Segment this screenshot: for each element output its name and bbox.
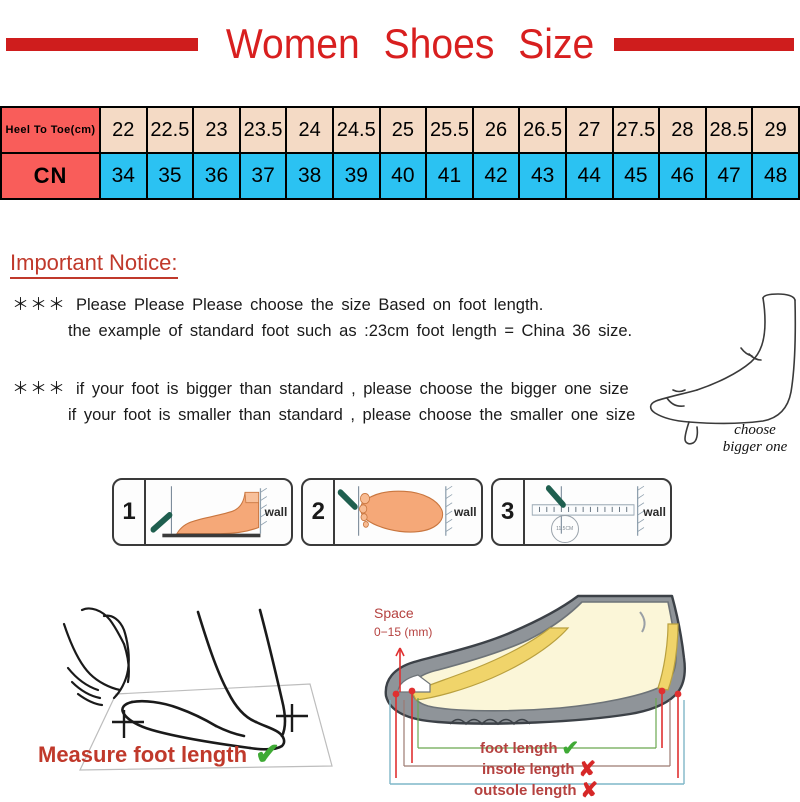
cm-cell: 22 [100, 107, 147, 153]
legend-row-foot-length: foot length ✔ [480, 738, 598, 759]
cm-cell: 23 [193, 107, 240, 153]
notice-bullet-2-line-2: if your foot is smaller than standard , … [68, 402, 672, 428]
cm-cell: 23.5 [240, 107, 287, 153]
legend-label-foot-length: foot length [480, 739, 557, 758]
cm-cell: 24.5 [333, 107, 380, 153]
check-mark-icon: ✔ [255, 740, 280, 770]
row-header-heel-to-toe: Heel To Toe(cm) [1, 107, 100, 153]
step-3-illustration: 11.5CM wall [525, 480, 670, 544]
row-header-cn: CN [1, 153, 100, 199]
cn-cell: 40 [380, 153, 427, 199]
page-title: Women Shoes Size [226, 20, 594, 68]
step-2-illustration: wall [335, 480, 480, 544]
choose-caption-line-2: bigger one [723, 439, 788, 455]
measure-caption-text: Measure foot length [38, 742, 247, 768]
cn-cell: 41 [426, 153, 473, 199]
cn-cell: 39 [333, 153, 380, 199]
title-word-size: Size [518, 20, 594, 67]
legend-row-outsole-length: outsole length ✘ [474, 780, 598, 801]
choose-bigger-one-caption: choose bigger one [700, 422, 800, 456]
notice-bullet-1-line-1: Please Please Please choose the size Bas… [76, 296, 543, 314]
check-mark-icon: ✔ [561, 738, 579, 759]
cn-cell: 45 [613, 153, 660, 199]
cm-cell: 29 [752, 107, 799, 153]
bullet-stars-icon: ＊＊＊ [12, 295, 66, 314]
title-word-women: Women [226, 20, 360, 67]
length-legend: foot length ✔ insole length ✘ outsole le… [480, 738, 598, 801]
notice-bullet-2-line-1: if your foot is bigger than standard , p… [76, 380, 629, 398]
cross-mark-icon: ✘ [579, 759, 597, 780]
notice-bullet-2: ＊＊＊if your foot is bigger than standard … [12, 376, 672, 428]
notice-bullet-1: ＊＊＊Please Please Please choose the size … [12, 292, 672, 344]
cm-cell: 24 [286, 107, 333, 153]
important-notice-heading: Important Notice: [10, 250, 178, 279]
page-title-banner: Women Shoes Size [0, 16, 800, 72]
space-label-line-1: Space [374, 605, 414, 621]
choose-caption-line-1: choose [734, 422, 776, 438]
wall-label-step-1: wall [265, 505, 288, 519]
cn-cell: 44 [566, 153, 613, 199]
cross-mark-icon: ✘ [581, 780, 599, 801]
measure-foot-length-caption: Measure foot length ✔ [38, 740, 280, 770]
measure-steps-panel-group: 1 wall 2 [112, 478, 672, 546]
cn-cell: 36 [193, 153, 240, 199]
cn-cell: 34 [100, 153, 147, 199]
cm-cell: 26 [473, 107, 520, 153]
space-gap-label: Space 0−15 (mm) [374, 604, 432, 641]
title-rule-left [6, 38, 198, 51]
measure-step-panel-3: 3 [491, 478, 672, 546]
cm-cell: 22.5 [147, 107, 194, 153]
cn-cell: 38 [286, 153, 333, 199]
wall-label-step-2: wall [454, 505, 477, 519]
step-1-illustration: wall [146, 480, 291, 544]
table-row-cn: CN 34 35 36 37 38 39 40 41 42 43 44 45 4… [1, 153, 799, 199]
cn-cell: 48 [752, 153, 799, 199]
step-number-2: 2 [303, 480, 335, 544]
title-rule-right [614, 38, 794, 51]
legend-label-insole-length: insole length [482, 760, 575, 779]
cn-cell: 35 [147, 153, 194, 199]
table-row-heel-to-toe: Heel To Toe(cm) 22 22.5 23 23.5 24 24.5 … [1, 107, 799, 153]
cm-cell: 26.5 [519, 107, 566, 153]
cn-cell: 47 [706, 153, 753, 199]
cm-cell: 27 [566, 107, 613, 153]
cn-cell: 46 [659, 153, 706, 199]
step-number-3: 3 [493, 480, 525, 544]
size-chart-table-wrapper: Heel To Toe(cm) 22 22.5 23 23.5 24 24.5 … [0, 106, 800, 200]
title-word-shoes: Shoes [384, 20, 495, 67]
cm-cell: 28 [659, 107, 706, 153]
cm-cell: 28.5 [706, 107, 753, 153]
cm-cell: 25 [380, 107, 427, 153]
size-chart-table: Heel To Toe(cm) 22 22.5 23 23.5 24 24.5 … [0, 106, 800, 200]
legend-row-insole-length: insole length ✘ [482, 759, 598, 780]
cn-cell: 37 [240, 153, 287, 199]
measure-step-panel-2: 2 wall [301, 478, 482, 546]
measure-step-panel-1: 1 wall [112, 478, 293, 546]
cn-cell: 43 [519, 153, 566, 199]
ruler-reading-badge: 11.5CM [551, 515, 579, 543]
step-number-1: 1 [114, 480, 146, 544]
cn-cell: 42 [473, 153, 520, 199]
space-label-line-2: 0−15 (mm) [374, 625, 432, 639]
cm-cell: 27.5 [613, 107, 660, 153]
bullet-stars-icon: ＊＊＊ [12, 379, 66, 398]
wall-label-step-3: wall [643, 505, 666, 519]
notice-bullet-1-line-2: the example of standard foot such as :23… [68, 318, 672, 344]
cm-cell: 25.5 [426, 107, 473, 153]
legend-label-outsole-length: outsole length [474, 781, 577, 800]
